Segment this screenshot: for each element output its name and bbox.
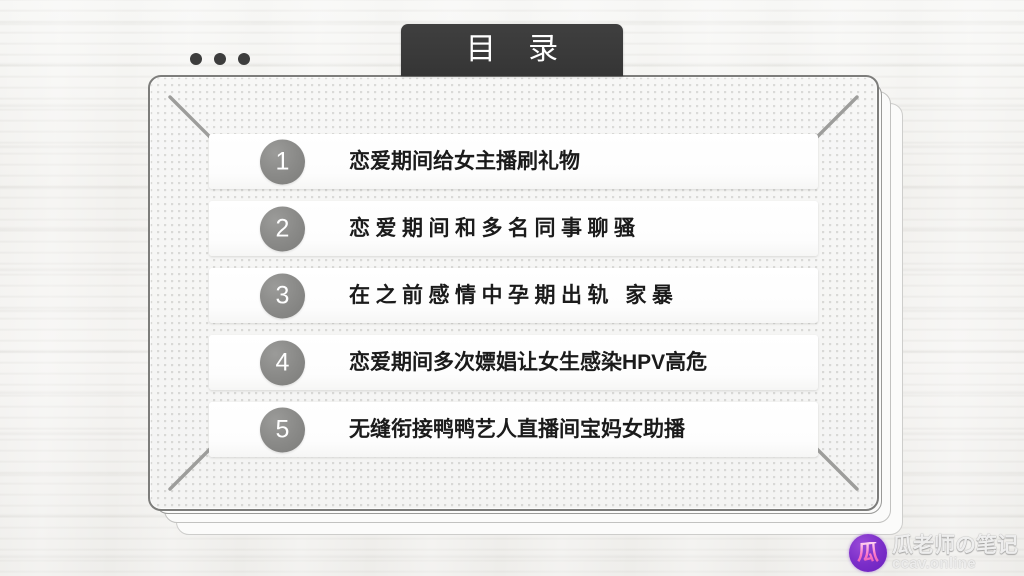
item-label: 恋爱期间给女主播刷礼物 (349, 151, 580, 172)
item-label: 恋爱期间和多名同事聊骚 (349, 218, 641, 239)
watermark-text: 瓜老师の笔记 ccav.online (892, 535, 1018, 572)
watermark-subtitle: ccav.online (892, 556, 1018, 571)
title-tab: 目 录 (401, 24, 623, 76)
window-dots (190, 53, 250, 65)
watermark: 瓜 瓜老师の笔记 ccav.online (849, 534, 1018, 572)
page-title: 目 录 (454, 35, 570, 65)
item-label: 恋爱期间多次嫖娼让女生感染HPV高危 (349, 352, 707, 373)
list-item[interactable]: 5 无缝衔接鸭鸭艺人直播间宝妈女助播 (209, 402, 818, 457)
item-number-badge: 4 (260, 340, 305, 385)
item-label: 无缝衔接鸭鸭艺人直播间宝妈女助播 (349, 419, 685, 440)
list-item[interactable]: 4 恋爱期间多次嫖娼让女生感染HPV高危 (209, 335, 818, 390)
item-number-badge: 5 (260, 407, 305, 452)
item-label: 在之前感情中孕期出轨 家暴 (349, 285, 678, 306)
window-dot-2 (214, 53, 226, 65)
slide-background: 目 录 1 恋爱期间给女主播刷礼物 2 恋爱期间和多名同事聊骚 (0, 0, 1024, 576)
contents-list: 1 恋爱期间给女主播刷礼物 2 恋爱期间和多名同事聊骚 3 在之前感情中孕期出轨… (209, 134, 818, 457)
item-number-badge: 1 (260, 139, 305, 184)
window-dot-1 (190, 53, 202, 65)
item-number-badge: 2 (260, 206, 305, 251)
item-number-badge: 3 (260, 273, 305, 318)
list-item[interactable]: 3 在之前感情中孕期出轨 家暴 (209, 268, 818, 323)
list-item[interactable]: 1 恋爱期间给女主播刷礼物 (209, 134, 818, 189)
watermark-logo-icon: 瓜 (849, 534, 887, 572)
watermark-logo-glyph: 瓜 (857, 542, 879, 564)
list-item[interactable]: 2 恋爱期间和多名同事聊骚 (209, 201, 818, 256)
contents-card: 1 恋爱期间给女主播刷礼物 2 恋爱期间和多名同事聊骚 3 在之前感情中孕期出轨… (148, 75, 879, 511)
window-dot-3 (238, 53, 250, 65)
watermark-title: 瓜老师の笔记 (892, 535, 1018, 556)
